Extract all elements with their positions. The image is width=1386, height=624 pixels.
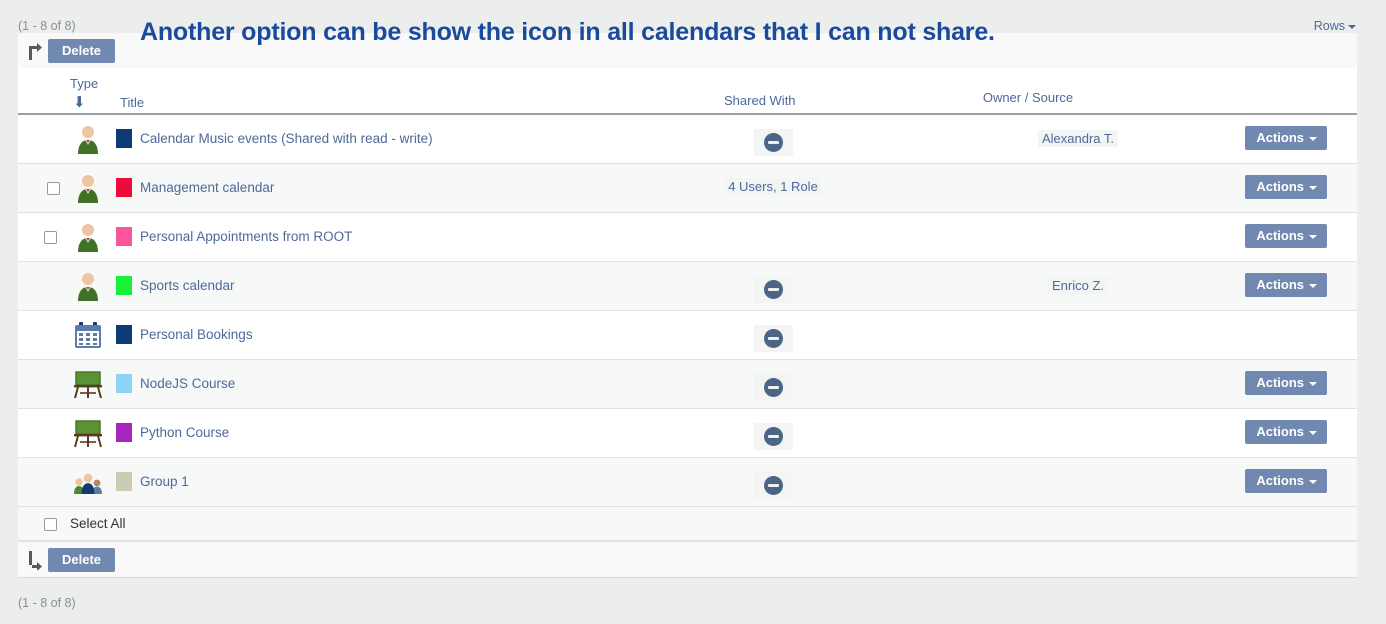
row-shared-with-cell <box>718 325 828 353</box>
row-unshare-button[interactable] <box>754 423 793 450</box>
chevron-down-icon <box>1309 186 1317 190</box>
table-row: Personal Bookings <box>18 311 1357 360</box>
person-icon <box>72 123 104 155</box>
row-title-link[interactable]: Personal Appointments from ROOT <box>140 229 352 244</box>
easel-board-icon <box>72 417 104 449</box>
person-icon <box>72 270 104 302</box>
row-type-icon <box>72 319 104 351</box>
row-actions-button[interactable]: Actions <box>1245 371 1327 395</box>
table-body: Calendar Music events (Shared with read … <box>18 115 1357 507</box>
row-unshare-button[interactable] <box>754 374 793 401</box>
table-row: Management calendar4 Users, 1 RoleAction… <box>18 164 1357 213</box>
chevron-down-icon <box>1348 25 1356 29</box>
row-unshare-button[interactable] <box>754 129 793 156</box>
circle-minus-icon[interactable] <box>764 378 783 397</box>
row-color-swatch <box>116 325 132 344</box>
row-color-swatch <box>116 129 132 148</box>
row-checkbox[interactable] <box>47 182 60 195</box>
row-title-link[interactable]: Calendar Music events (Shared with read … <box>140 131 433 146</box>
column-header-type[interactable]: Type <box>70 76 98 91</box>
sort-ascending-arrow-icon[interactable]: ⬇ <box>73 93 86 111</box>
circle-minus-icon[interactable] <box>764 329 783 348</box>
chevron-down-icon <box>1309 284 1317 288</box>
row-title-link[interactable]: Personal Bookings <box>140 327 253 342</box>
arrow-up-right-icon <box>26 41 44 61</box>
table-header-row: Type ⬇ Title Shared With Owner / Source <box>18 68 1357 115</box>
column-header-title[interactable]: Title <box>120 95 144 110</box>
row-type-icon <box>72 270 104 302</box>
select-all-checkbox[interactable] <box>44 518 57 531</box>
row-title-link[interactable]: Management calendar <box>140 180 274 195</box>
row-shared-with-cell <box>718 472 828 500</box>
row-actions-button[interactable]: Actions <box>1245 224 1327 248</box>
row-owner-name: Alexandra T. <box>1038 130 1118 147</box>
row-title-link[interactable]: Group 1 <box>140 474 189 489</box>
page-root: (1 - 8 of 8) Another option can be show … <box>0 0 1386 624</box>
delete-button-bottom[interactable]: Delete <box>48 548 115 572</box>
row-shared-with-cell: 4 Users, 1 Role <box>718 178 828 196</box>
chevron-down-icon <box>1309 382 1317 386</box>
table-row: Sports calendarEnrico Z.Actions <box>18 262 1357 311</box>
row-title-link[interactable]: Sports calendar <box>140 278 235 293</box>
row-color-swatch <box>116 276 132 295</box>
chevron-down-icon <box>1309 137 1317 141</box>
row-owner-source-cell: Alexandra T. <box>878 130 1278 148</box>
row-shared-with-text: 4 Users, 1 Role <box>725 178 821 195</box>
row-type-icon <box>72 172 104 204</box>
rows-dropdown-label: Rows <box>1314 19 1345 33</box>
calendar-icon <box>72 319 104 351</box>
row-color-swatch <box>116 472 132 491</box>
rows-dropdown[interactable]: Rows <box>1314 19 1356 33</box>
row-actions-button[interactable]: Actions <box>1245 175 1327 199</box>
row-actions-button[interactable]: Actions <box>1245 273 1327 297</box>
row-color-swatch <box>116 423 132 442</box>
calendar-table-panel: Delete Type ⬇ Title Shared With Owner / … <box>18 33 1357 578</box>
row-unshare-button[interactable] <box>754 325 793 352</box>
table-row: Calendar Music events (Shared with read … <box>18 115 1357 164</box>
column-header-owner-source[interactable]: Owner / Source <box>818 90 1238 105</box>
row-shared-with-cell <box>718 423 828 451</box>
easel-board-icon <box>72 368 104 400</box>
select-all-bar: Select All <box>18 507 1357 541</box>
row-actions-button[interactable]: Actions <box>1245 126 1327 150</box>
circle-minus-icon[interactable] <box>764 476 783 495</box>
row-type-icon <box>72 368 104 400</box>
row-type-icon <box>72 466 104 498</box>
person-icon <box>72 172 104 204</box>
row-shared-with-cell <box>718 276 828 304</box>
page-headline: Another option can be show the icon in a… <box>140 18 1240 47</box>
circle-minus-icon[interactable] <box>764 280 783 299</box>
select-all-label: Select All <box>70 516 126 531</box>
chevron-down-icon <box>1309 235 1317 239</box>
row-title-link[interactable]: Python Course <box>140 425 229 440</box>
row-color-swatch <box>116 227 132 246</box>
group-people-icon <box>72 466 104 498</box>
row-actions-button[interactable]: Actions <box>1245 469 1327 493</box>
delete-button-top[interactable]: Delete <box>48 39 115 63</box>
row-shared-with-cell <box>718 374 828 402</box>
row-unshare-button[interactable] <box>754 276 793 303</box>
row-title-link[interactable]: NodeJS Course <box>140 376 235 391</box>
row-owner-name: Enrico Z. <box>1048 277 1108 294</box>
row-type-icon <box>72 123 104 155</box>
row-unshare-button[interactable] <box>754 472 793 499</box>
circle-minus-icon[interactable] <box>764 427 783 446</box>
chevron-down-icon <box>1309 431 1317 435</box>
column-header-shared-with[interactable]: Shared With <box>724 93 796 108</box>
row-color-swatch <box>116 374 132 393</box>
arrow-down-right-icon <box>26 550 44 570</box>
row-type-icon <box>72 417 104 449</box>
row-actions-button[interactable]: Actions <box>1245 420 1327 444</box>
person-icon <box>72 221 104 253</box>
circle-minus-icon[interactable] <box>764 133 783 152</box>
chevron-down-icon <box>1309 480 1317 484</box>
table-row: Personal Appointments from ROOTActions <box>18 213 1357 262</box>
pagination-top: (1 - 8 of 8) <box>18 19 76 33</box>
table-row: Group 1Actions <box>18 458 1357 507</box>
table-row: Python CourseActions <box>18 409 1357 458</box>
row-shared-with-cell <box>718 129 828 157</box>
pagination-bottom: (1 - 8 of 8) <box>18 596 76 610</box>
table-row: NodeJS CourseActions <box>18 360 1357 409</box>
row-color-swatch <box>116 178 132 197</box>
row-type-icon <box>72 221 104 253</box>
row-owner-source-cell: Enrico Z. <box>878 277 1278 295</box>
toolbar-bottom: Delete <box>18 541 1357 577</box>
row-checkbox[interactable] <box>44 231 57 244</box>
